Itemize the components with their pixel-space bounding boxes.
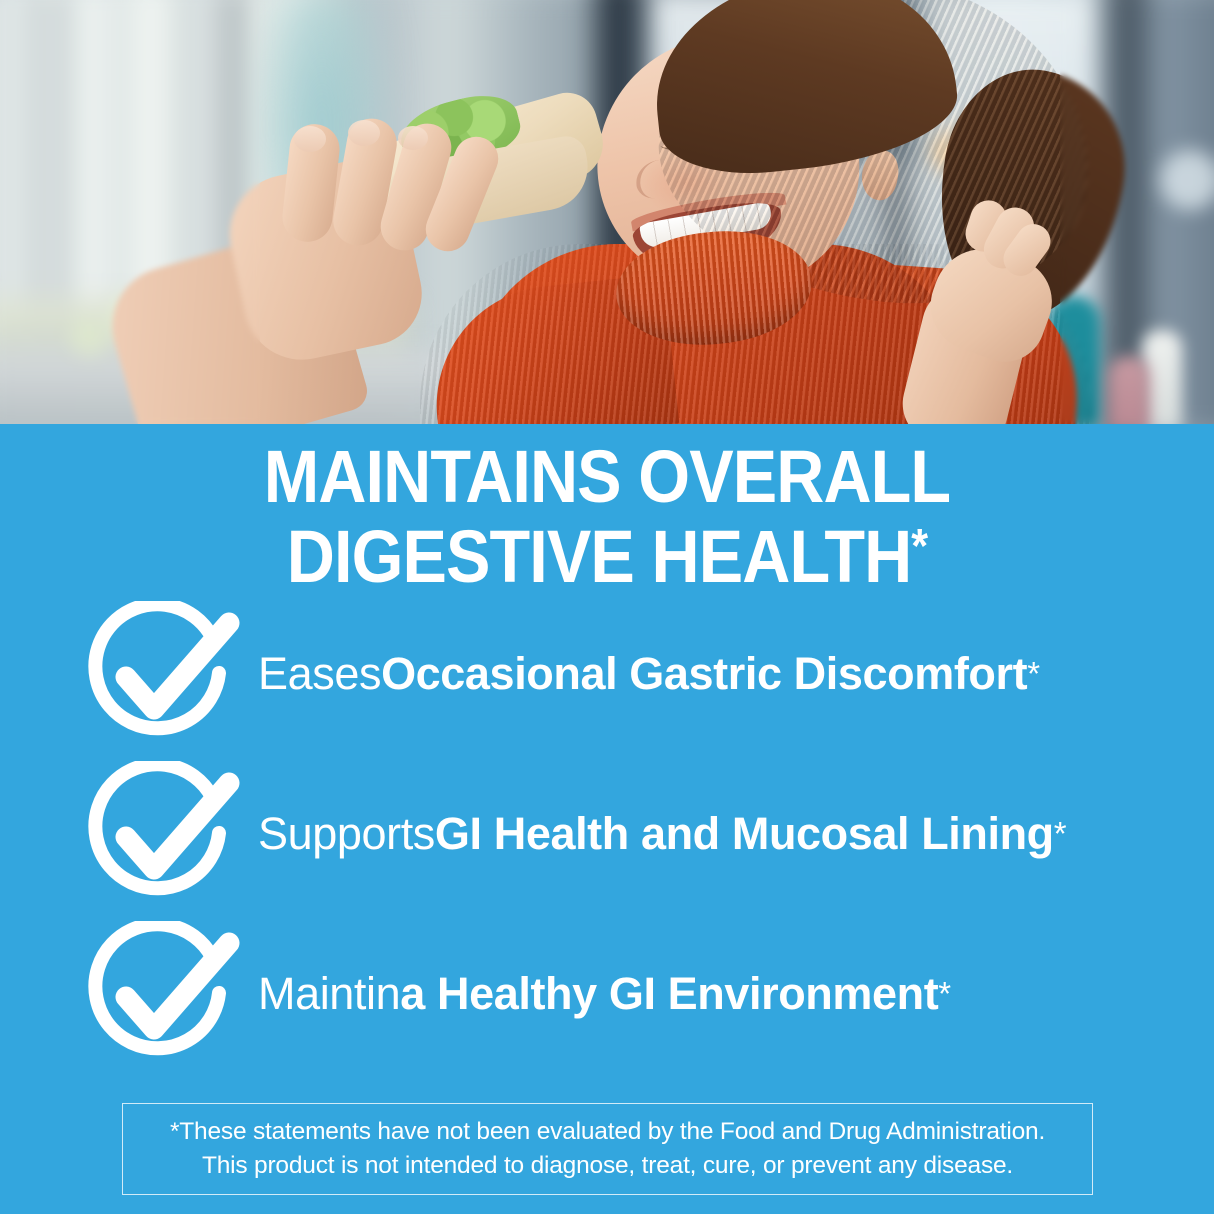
disclaimer-line-1: *These statements have not been evaluate… [170, 1115, 1045, 1149]
content-panel: MAINTAINS OVERALL DIGESTIVE HEALTH* Ease… [0, 424, 1214, 1214]
fingernail-3 [398, 126, 428, 150]
benefits-list: Eases Occasional Gastric Discomfort* Sup… [0, 599, 1214, 1079]
page-title: MAINTAINS OVERALL DIGESTIVE HEALTH* [61, 442, 1154, 592]
fingernail-2 [348, 120, 380, 146]
fda-disclaimer: *These statements have not been evaluate… [122, 1103, 1093, 1195]
list-item: Eases Occasional Gastric Discomfort* [0, 599, 1214, 759]
headline-asterisk: * [911, 520, 927, 573]
check-circle-icon [74, 921, 244, 1071]
bullet-1-lead: Eases [258, 648, 381, 700]
list-item-label: Eases Occasional Gastric Discomfort* [258, 599, 1040, 749]
bullet-2-lead: Supports [258, 808, 435, 860]
list-item: Supports GI Health and Mucosal Lining* [0, 759, 1214, 919]
bullet-1-strong: Occasional Gastric Discomfort [381, 648, 1027, 700]
check-circle-icon [74, 601, 244, 751]
fingernail-1 [294, 126, 326, 152]
infographic-canvas: MAINTAINS OVERALL DIGESTIVE HEALTH* Ease… [0, 0, 1214, 1214]
list-item-label: Supports GI Health and Mucosal Lining* [258, 759, 1066, 909]
list-item: Maintin a Healthy GI Environment* [0, 919, 1214, 1079]
headline-line-1: MAINTAINS OVERALL [61, 442, 1154, 512]
bullet-2-asterisk: * [1054, 808, 1066, 860]
headline-line-2-text: DIGESTIVE HEALTH [287, 515, 912, 598]
bullet-3-lead: Maintin [258, 968, 400, 1020]
bullet-3-asterisk: * [938, 968, 950, 1020]
woman-subject [0, 0, 1214, 424]
headline-line-2: DIGESTIVE HEALTH* [61, 512, 1154, 592]
hero-photo [0, 0, 1214, 424]
check-circle-icon [74, 761, 244, 911]
bullet-1-asterisk: * [1027, 648, 1039, 700]
bullet-2-strong: GI Health and Mucosal Lining [435, 808, 1054, 860]
list-item-label: Maintin a Healthy GI Environment* [258, 919, 951, 1069]
bullet-3-strong: a Healthy GI Environment [400, 968, 938, 1020]
disclaimer-line-2: This product is not intended to diagnose… [202, 1149, 1013, 1183]
